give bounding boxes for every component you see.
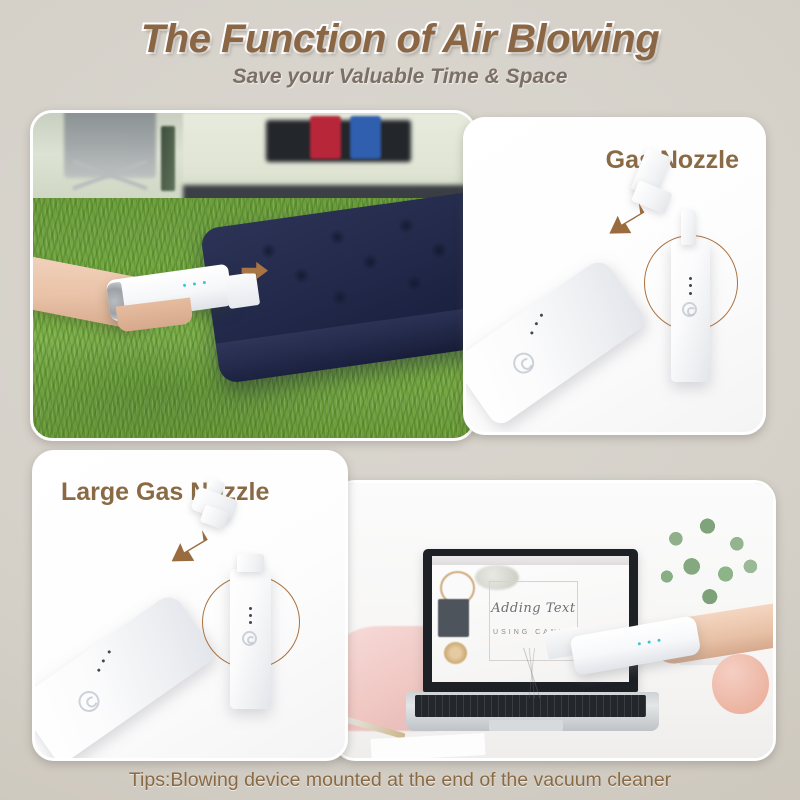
header: The Function of Air Blowing Save your Va… (0, 18, 800, 89)
gas-nozzle-label: Gas Nozzle (606, 146, 739, 175)
laptop-trackpad (489, 720, 563, 731)
led-indicator-icon (183, 284, 186, 287)
desk-scene: Adding Text USING CANVA (336, 483, 773, 758)
camping-chair-legs (73, 159, 148, 192)
inset-large-nozzle (237, 554, 265, 572)
inset-device-body (671, 239, 710, 383)
led-indicator-icon (689, 284, 692, 287)
led-indicator-icon (535, 321, 539, 325)
led-indicator-icon (102, 658, 106, 662)
canva-script-text: Adding Text (490, 601, 577, 616)
led-indicator-icon (530, 331, 534, 335)
led-indicator-icon (647, 640, 650, 643)
led-indicator-icon (249, 614, 252, 617)
led-indicator-icon (96, 668, 100, 672)
attach-arrow-icon (609, 198, 648, 245)
inset-device-body (230, 569, 270, 709)
led-indicator-icon (689, 292, 692, 295)
notebook-photo (438, 599, 470, 637)
power-button-icon (509, 349, 538, 378)
thermos (161, 126, 175, 191)
device-body (32, 591, 218, 761)
pink-vase (712, 654, 769, 715)
red-bag (310, 116, 341, 158)
browser-toolbar (432, 556, 629, 565)
led-indicator-icon (637, 642, 640, 645)
power-button-icon (242, 631, 257, 646)
page-title: The Function of Air Blowing (0, 18, 800, 60)
camping-scene (33, 113, 473, 438)
led-indicator-icon (249, 607, 252, 610)
laptop-keyboard (415, 695, 647, 717)
power-button-icon (682, 302, 697, 317)
air-flow-arrow-icon (235, 256, 275, 285)
camping-photo-panel (30, 110, 476, 441)
led-indicator-icon (657, 638, 660, 641)
gas-nozzle-panel: Gas Nozzle (463, 117, 766, 435)
desk-photo-panel: Adding Text USING CANVA (333, 480, 776, 761)
page-subtitle: Save your Valuable Time & Space (0, 65, 800, 89)
paper-sheet (370, 733, 485, 761)
led-indicator-icon (107, 649, 111, 653)
large-gas-nozzle-label: Large Gas Nozzle (61, 478, 269, 507)
led-indicator-icon (249, 621, 252, 624)
inset-gas-nozzle (681, 210, 696, 244)
watch-photo (444, 642, 468, 665)
led-indicator-icon (193, 283, 196, 286)
led-indicator-icon (689, 277, 692, 280)
led-indicator-icon (203, 281, 206, 284)
led-indicator-icon (540, 313, 544, 317)
large-gas-nozzle-panel: Large Gas Nozzle (32, 450, 348, 761)
blue-bag (350, 116, 381, 158)
power-button-icon (74, 686, 103, 715)
tips-text: Tips:Blowing device mounted at the end o… (0, 769, 800, 792)
attach-arrow-icon (171, 526, 211, 572)
device-body (463, 256, 649, 428)
infographic-page: The Function of Air Blowing Save your Va… (0, 0, 800, 800)
